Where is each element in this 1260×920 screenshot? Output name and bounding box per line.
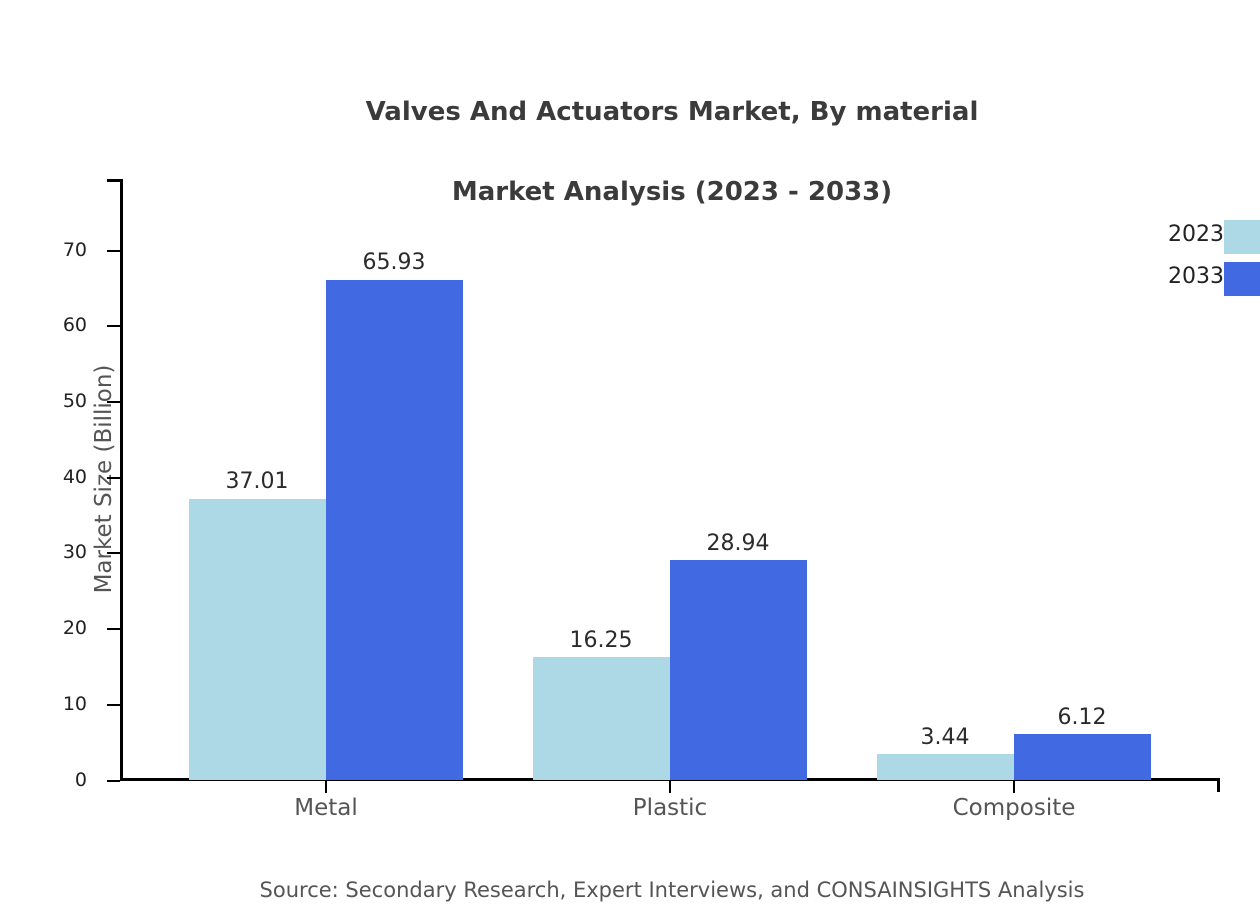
y-tick-30: 30 [107,552,120,554]
legend-item-2033[interactable]: 2033 [1134,260,1260,302]
x-tick-metal [325,781,327,793]
bar-label-2033-metal: 65.93 [363,250,426,275]
x-tick-label-plastic: Plastic [633,795,707,821]
bar-2033-plastic[interactable] [670,560,807,780]
y-tick-label-10: 10 [63,693,87,715]
y-axis-title: Market Size (Billion) [91,365,117,594]
y-tick-0: 0 [107,780,120,782]
legend-swatch-2023 [1224,220,1260,254]
y-tick-label-30: 30 [63,541,87,563]
y-tick-10: 10 [107,704,120,706]
plot-area: Market Size (Billion) 0 10 20 30 40 50 6… [120,179,1220,781]
y-axis-top-cap [107,179,120,182]
bar-2023-metal[interactable] [189,499,326,780]
legend: 2023 2033 [1134,218,1260,302]
bar-2023-composite[interactable] [877,754,1014,780]
y-tick-label-70: 70 [63,239,87,261]
legend-swatch-2033 [1224,262,1260,296]
bar-2033-metal[interactable] [326,280,463,780]
y-tick-label-40: 40 [63,466,87,488]
bar-label-2023-plastic: 16.25 [570,628,633,653]
bar-label-2023-composite: 3.44 [921,725,970,750]
y-tick-label-0: 0 [75,769,87,791]
x-axis-end-cap [1217,778,1220,792]
y-tick-20: 20 [107,628,120,630]
bar-label-2023-metal: 37.01 [226,469,289,494]
bar-2023-plastic[interactable] [533,657,670,780]
x-tick-composite [1013,781,1015,793]
y-tick-label-50: 50 [63,390,87,412]
source-note: Source: Secondary Research, Expert Inter… [0,878,1260,902]
legend-label-2023: 2023 [1168,218,1224,252]
y-tick-70: 70 [107,250,120,252]
bar-label-2033-composite: 6.12 [1058,705,1107,730]
y-tick-50: 50 [107,401,120,403]
y-tick-40: 40 [107,477,120,479]
y-tick-60: 60 [107,325,120,327]
chart-title-line-1: Valves And Actuators Market, By material [0,92,1260,132]
legend-label-2033: 2033 [1168,260,1224,294]
x-tick-label-metal: Metal [294,795,358,821]
bar-label-2033-plastic: 28.94 [707,531,770,556]
legend-item-2023[interactable]: 2023 [1134,218,1260,260]
y-tick-label-60: 60 [63,314,87,336]
y-tick-label-20: 20 [63,617,87,639]
x-tick-label-composite: Composite [953,795,1076,821]
x-tick-plastic [669,781,671,793]
y-axis-spine [120,179,123,781]
bar-2033-composite[interactable] [1014,734,1151,780]
